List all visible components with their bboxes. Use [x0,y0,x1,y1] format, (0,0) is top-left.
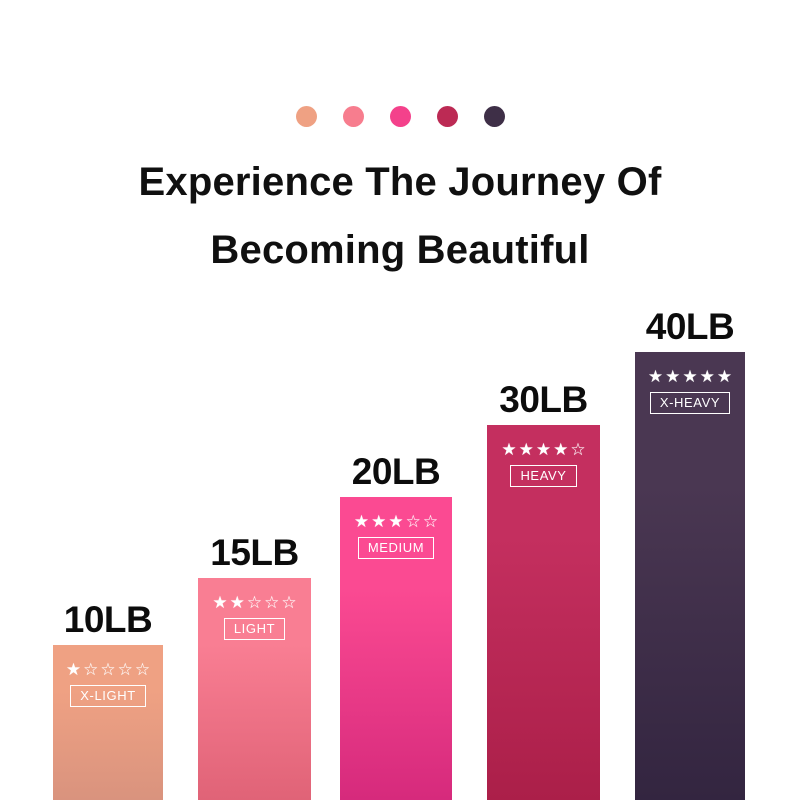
star-filled-icon: ★ [212,594,227,611]
bar-group-light: 15LB★★☆☆☆LIGHT [198,530,311,800]
star-filled-icon: ★ [66,661,81,678]
star-rating: ★★☆☆☆ [212,594,296,611]
star-rating: ★★★☆☆ [354,513,438,530]
strength-badge: LIGHT [224,618,285,640]
star-empty-icon: ☆ [570,441,585,458]
bar-weight-label: 20LB [340,452,452,492]
star-filled-icon: ★ [665,368,680,385]
bar-column: ★☆☆☆☆X-LIGHT [53,645,163,800]
star-filled-icon: ★ [501,441,516,458]
bar-column: ★★★★★X-HEAVY [635,352,745,800]
star-rating: ★★★★☆ [501,441,585,458]
bar-content: ★★★☆☆MEDIUM [340,513,452,559]
bar-column: ★★☆☆☆LIGHT [198,578,311,800]
star-filled-icon: ★ [553,441,568,458]
product-infographic: Experience The Journey Of Becoming Beaut… [0,0,800,800]
star-rating: ★★★★★ [648,368,732,385]
star-filled-icon: ★ [717,368,732,385]
star-empty-icon: ☆ [247,594,262,611]
star-empty-icon: ☆ [406,513,421,530]
strength-badge: X-LIGHT [70,685,145,707]
bar-group-x-heavy: 40LB★★★★★X-HEAVY [635,304,745,800]
bar-group-medium: 20LB★★★☆☆MEDIUM [340,449,452,800]
star-empty-icon: ☆ [100,661,115,678]
star-filled-icon: ★ [700,368,715,385]
bar-group-heavy: 30LB★★★★☆HEAVY [487,377,600,800]
bar-column: ★★★☆☆MEDIUM [340,497,452,800]
star-filled-icon: ★ [682,368,697,385]
bar-weight-label: 15LB [198,533,311,573]
bar-content: ★★☆☆☆LIGHT [198,594,311,640]
star-filled-icon: ★ [648,368,663,385]
star-rating: ★☆☆☆☆ [66,661,150,678]
star-filled-icon: ★ [230,594,245,611]
bar-content: ★☆☆☆☆X-LIGHT [53,661,163,707]
star-empty-icon: ☆ [135,661,150,678]
star-filled-icon: ★ [388,513,403,530]
bar-weight-label: 40LB [635,307,745,347]
star-filled-icon: ★ [536,441,551,458]
strength-badge: HEAVY [510,465,576,487]
star-empty-icon: ☆ [423,513,438,530]
bar-weight-label: 30LB [487,380,600,420]
star-filled-icon: ★ [354,513,369,530]
star-empty-icon: ☆ [264,594,279,611]
strength-badge: MEDIUM [358,537,434,559]
star-empty-icon: ☆ [83,661,98,678]
bar-group-x-light: 10LB★☆☆☆☆X-LIGHT [53,597,163,800]
bar-content: ★★★★☆HEAVY [487,441,600,487]
bar-content: ★★★★★X-HEAVY [635,368,745,414]
star-filled-icon: ★ [371,513,386,530]
bar-column: ★★★★☆HEAVY [487,425,600,800]
strength-badge: X-HEAVY [650,392,730,414]
bar-weight-label: 10LB [53,600,163,640]
star-empty-icon: ☆ [118,661,133,678]
resistance-bar-chart: 10LB★☆☆☆☆X-LIGHT15LB★★☆☆☆LIGHT20LB★★★☆☆M… [0,0,800,800]
star-filled-icon: ★ [519,441,534,458]
star-empty-icon: ☆ [281,594,296,611]
